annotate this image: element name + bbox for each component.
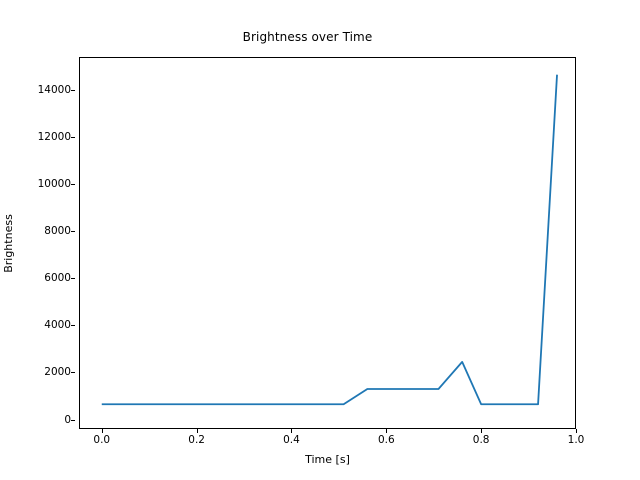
y-tick-label: 12000: [38, 132, 71, 143]
y-tick-mark: [71, 184, 75, 185]
y-tick-mark: [71, 231, 75, 232]
x-tick-mark: [197, 429, 198, 433]
y-tick-label: 10000: [38, 179, 71, 190]
y-tick-label: 2000: [44, 367, 71, 378]
y-tick-label: 8000: [44, 226, 71, 237]
x-tick-mark: [102, 429, 103, 433]
y-tick-mark: [71, 420, 75, 421]
x-tick-label: 0.8: [473, 435, 490, 446]
chart-title: Brightness over Time: [0, 30, 640, 44]
x-tick-mark: [386, 429, 387, 433]
x-tick-label: 0.0: [93, 435, 110, 446]
series-brightness-line: [102, 75, 557, 405]
y-tick-label: 0: [64, 414, 71, 425]
y-tick-mark: [71, 325, 75, 326]
x-axis-tick-labels: 0.00.20.40.60.81.0: [79, 435, 576, 451]
y-tick-label: 6000: [44, 273, 71, 284]
plot-axes: [79, 57, 576, 429]
x-tick-label: 0.6: [378, 435, 395, 446]
y-tick-mark: [71, 137, 75, 138]
y-tick-mark: [71, 278, 75, 279]
x-axis-label: Time [s]: [79, 453, 576, 466]
data-line-plot: [79, 57, 576, 429]
matplotlib-figure: Brightness over Time Brightness 02000400…: [0, 0, 640, 480]
y-tick-mark: [71, 90, 75, 91]
x-tick-label: 1.0: [568, 435, 585, 446]
x-tick-mark: [576, 429, 577, 433]
y-tick-label: 14000: [38, 85, 71, 96]
x-tick-mark: [481, 429, 482, 433]
y-tick-label: 4000: [44, 320, 71, 331]
x-tick-label: 0.2: [188, 435, 205, 446]
y-axis-tick-labels: 02000400060008000100001200014000: [0, 57, 71, 429]
x-tick-mark: [291, 429, 292, 433]
x-tick-label: 0.4: [283, 435, 300, 446]
y-tick-mark: [71, 372, 75, 373]
